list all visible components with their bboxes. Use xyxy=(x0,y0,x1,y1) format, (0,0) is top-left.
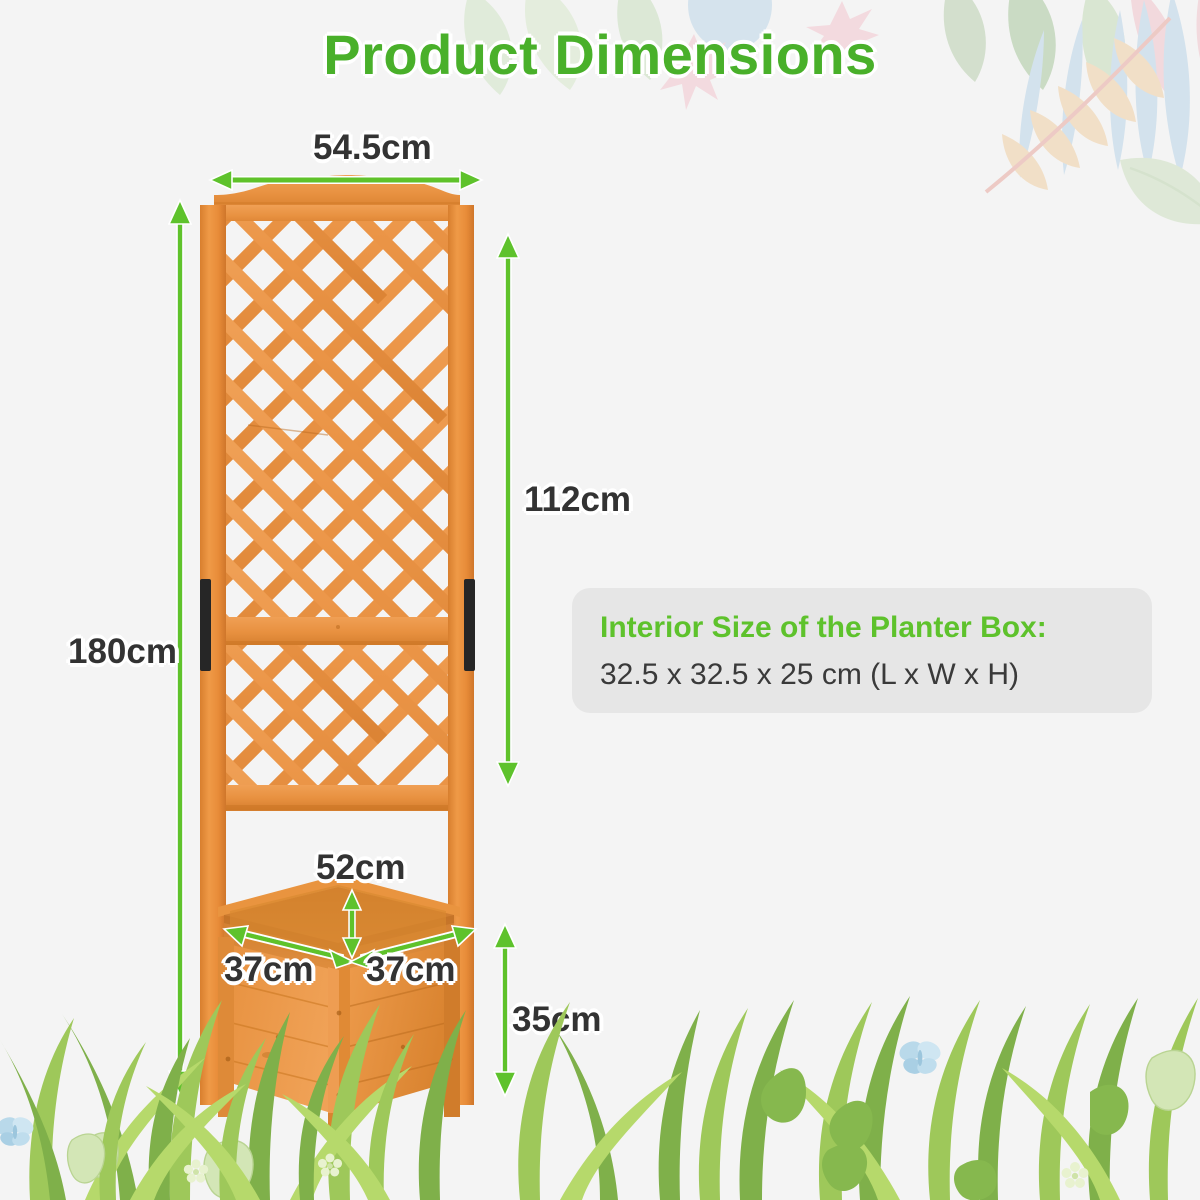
dimension-label-box-side-right: 37cm xyxy=(366,950,456,990)
bracket-left xyxy=(200,579,211,671)
interior-size-title: Interior Size of the Planter Box: xyxy=(600,608,1124,649)
interior-size-value: 32.5 x 32.5 x 25 cm (L x W x H) xyxy=(600,653,1124,697)
dimension-label-height: 180cm xyxy=(68,632,177,672)
dimension-label-trellis-height: 112cm xyxy=(524,480,631,520)
bracket-right xyxy=(464,579,475,671)
dimension-label-box-depth: 52cm xyxy=(316,848,406,888)
interior-size-callout: Interior Size of the Planter Box: 32.5 x… xyxy=(572,588,1152,713)
dimension-label-box-side-left: 37cm xyxy=(224,950,314,990)
butterfly-icon xyxy=(896,1038,943,1077)
infographic-canvas: Product Dimensions xyxy=(0,0,1200,1200)
page-title: Product Dimensions xyxy=(0,22,1200,87)
butterfly-icon-left xyxy=(0,1114,36,1148)
dimension-label-width: 54.5cm xyxy=(313,128,432,168)
dimension-label-box-height: 35cm xyxy=(512,1000,602,1040)
